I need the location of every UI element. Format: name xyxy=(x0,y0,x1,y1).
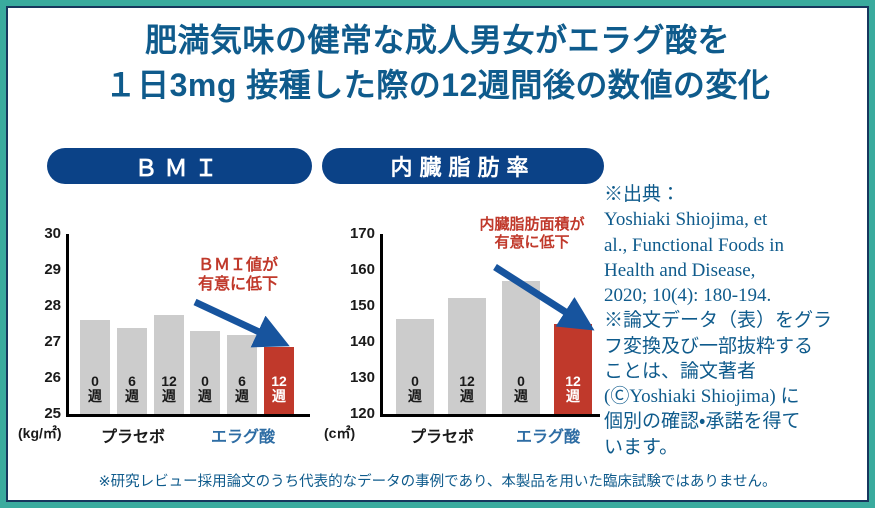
y-axis-tick-label: 120 xyxy=(323,406,375,421)
bar-label-number: 0 xyxy=(411,373,419,389)
bar-label: 0週 xyxy=(80,374,110,403)
bar-label: 0週 xyxy=(190,374,220,403)
section-header-bmi: ＢＭＩ xyxy=(47,148,312,184)
group-label-active: エラグ酸 xyxy=(183,423,303,447)
section-header-visceral-fat-label: 内臓脂肪率 xyxy=(390,150,535,182)
x-axis-line xyxy=(66,414,310,417)
citation-line-4: Health and Disease, xyxy=(604,258,866,283)
y-axis-tick-label: 160 xyxy=(323,262,375,277)
callout-visceral-fat: 内臓脂肪面積が 有意に低下 xyxy=(452,216,612,252)
footer-disclaimer: ※研究レビュー採用論文のうち代表的なデータの事例であり、本製品を用いた臨床試験で… xyxy=(14,470,861,491)
y-axis-tick-label: 30 xyxy=(9,226,61,241)
bar-label-number: 12 xyxy=(565,373,581,389)
page-title-line-1: 肥満気味の健常な成人男女がエラグ酸を xyxy=(145,22,730,58)
citation-line-9: (ⒸYoshiaki Shiojima) に xyxy=(604,384,866,409)
y-axis-line xyxy=(66,234,69,414)
group-label-placebo: プラセボ xyxy=(384,423,500,447)
bar-label-number: 12 xyxy=(459,373,475,389)
infographic-page: 肥満気味の健常な成人男女がエラグ酸を １日3mg 接種した際の12週間後の数値の… xyxy=(0,0,875,508)
bar-label: 6週 xyxy=(117,374,147,403)
bar-label-unit: 週 xyxy=(502,389,540,404)
bar-label: 0週 xyxy=(396,374,434,403)
y-axis-tick-label: 29 xyxy=(9,262,61,277)
bar-label-unit: 週 xyxy=(264,389,294,404)
section-header-bmi-label: ＢＭＩ xyxy=(135,149,225,183)
bar-label-unit: 週 xyxy=(117,389,147,404)
bar-label-unit: 週 xyxy=(190,389,220,404)
page-title-line-2: １日3mg 接種した際の12週間後の数値の変化 xyxy=(14,63,861,108)
citation-line-6: ※論文データ（表）をグラ xyxy=(604,308,866,333)
bar-label: 12週 xyxy=(448,374,486,403)
group-label-active: エラグ酸 xyxy=(490,423,606,447)
bar-label-number: 12 xyxy=(271,373,287,389)
bar-label: 6週 xyxy=(227,374,257,403)
citation-line-10: 個別の確認・承諾を得て xyxy=(604,409,866,434)
citation-line-2: Yoshiaki Shiojima, et xyxy=(604,207,866,232)
y-axis-unit-label: (kg/㎡) xyxy=(18,423,62,443)
citation-line-8: ことは、論文著者 xyxy=(604,359,866,384)
arrow-bmi-decrease xyxy=(192,296,292,356)
section-header-visceral-fat: 内臓脂肪率 xyxy=(322,148,604,184)
y-axis-tick-label: 130 xyxy=(323,370,375,385)
bar-label-number: 12 xyxy=(161,373,177,389)
bar-label-number: 0 xyxy=(201,373,209,389)
y-axis-unit-label: (c㎡) xyxy=(324,423,355,443)
citation-block: ※出典： Yoshiaki Shiojima, et al., Function… xyxy=(604,182,866,460)
x-axis-line xyxy=(380,414,600,417)
y-axis-tick-label: 28 xyxy=(9,298,61,313)
bar-label: 12週 xyxy=(554,374,592,403)
bar-label-unit: 週 xyxy=(227,389,257,404)
callout-bmi-line-2: 有意に低下 xyxy=(168,275,308,294)
callout-visceral-fat-line-1: 内臓脂肪面積が xyxy=(479,216,584,233)
y-axis-line xyxy=(380,234,383,414)
y-axis-tick-label: 26 xyxy=(9,370,61,385)
bar-label: 12週 xyxy=(154,374,184,403)
citation-line-1: ※出典： xyxy=(604,182,866,207)
y-axis-tick-label: 170 xyxy=(323,226,375,241)
citation-line-7: フ変換及び一部抜粋する xyxy=(604,334,866,359)
bar-label-unit: 週 xyxy=(554,389,592,404)
bar-label-number: 0 xyxy=(517,373,525,389)
y-axis-tick-label: 25 xyxy=(9,406,61,421)
citation-line-11: います。 xyxy=(604,435,866,460)
bar-label-unit: 週 xyxy=(448,389,486,404)
bar-label: 12週 xyxy=(264,374,294,403)
group-label-placebo: プラセボ xyxy=(73,423,193,447)
bar-label-unit: 週 xyxy=(396,389,434,404)
callout-bmi: ＢＭＩ値が 有意に低下 xyxy=(168,256,308,294)
bar-label-number: 6 xyxy=(238,373,246,389)
citation-line-3: al., Functional Foods in xyxy=(604,233,866,258)
bar-label-number: 0 xyxy=(91,373,99,389)
bar-label-unit: 週 xyxy=(154,389,184,404)
bar-label-number: 6 xyxy=(128,373,136,389)
y-axis-tick-label: 27 xyxy=(9,334,61,349)
y-axis-tick-label: 150 xyxy=(323,298,375,313)
callout-visceral-fat-line-2: 有意に低下 xyxy=(452,234,612,252)
bar-label: 0週 xyxy=(502,374,540,403)
page-title: 肥満気味の健常な成人男女がエラグ酸を １日3mg 接種した際の12週間後の数値の… xyxy=(14,18,861,109)
callout-bmi-line-1: ＢＭＩ値が xyxy=(198,257,278,274)
y-axis-tick-label: 140 xyxy=(323,334,375,349)
bar-label-unit: 週 xyxy=(80,389,110,404)
citation-line-5: 2020; 10(4): 180-194. xyxy=(604,283,866,308)
arrow-visceral-fat-decrease xyxy=(492,262,602,342)
